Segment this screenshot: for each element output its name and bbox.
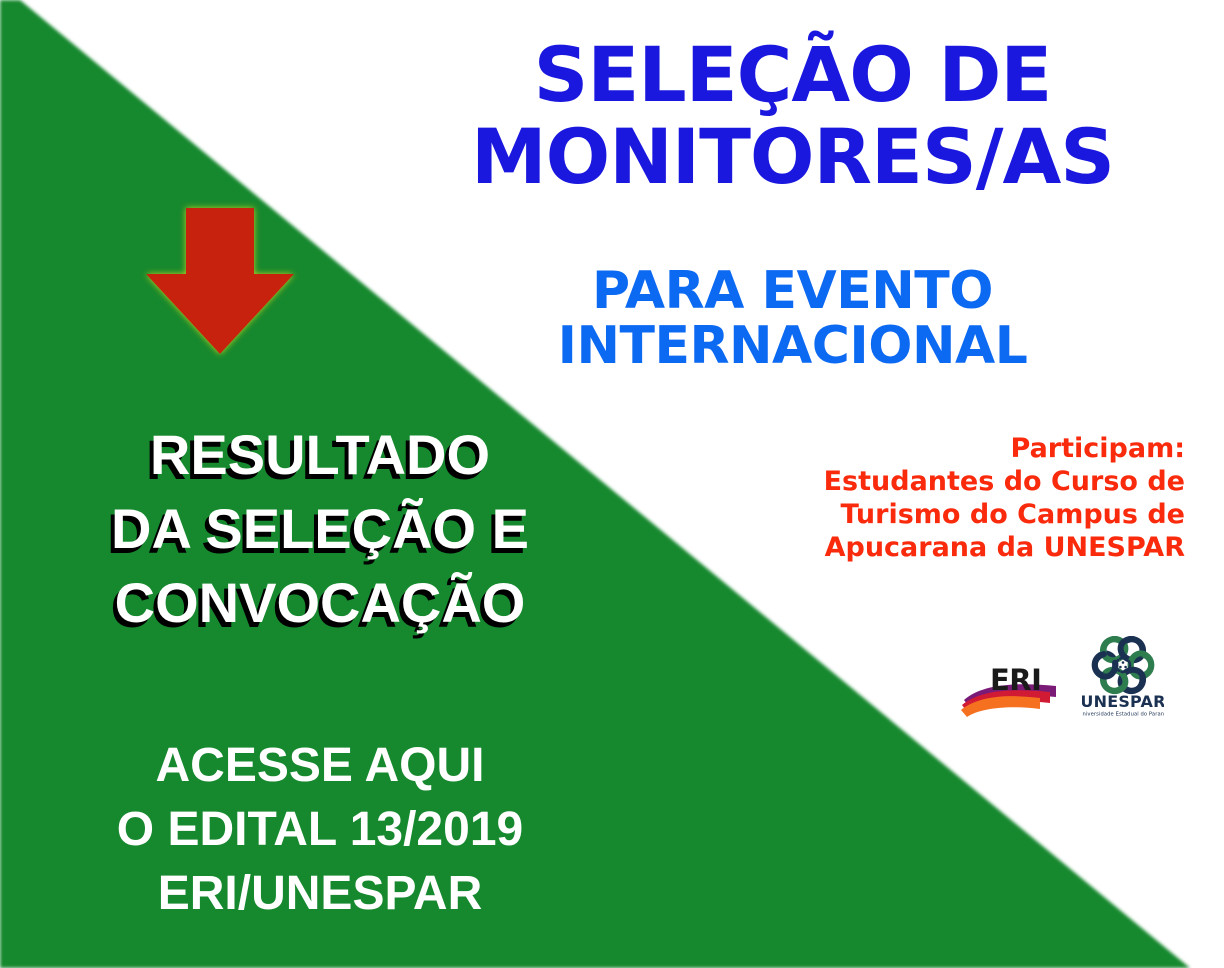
left-content-column: RESULTADO DA SELEÇÃO E CONVOCAÇÃO ACESSE… xyxy=(0,0,660,968)
logo-row: ERI xyxy=(960,630,1185,720)
access-call-to-action[interactable]: ACESSE AQUI O EDITAL 13/2019 ERI/UNESPAR xyxy=(0,734,640,926)
unespar-logo: UNESPAR Universidade Estadual do Paraná xyxy=(1082,636,1164,720)
result-headline: RESULTADO DA SELEÇÃO E CONVOCAÇÃO xyxy=(0,418,640,640)
result-line-3: CONVOCAÇÃO xyxy=(0,566,640,640)
unespar-wordmark: UNESPAR xyxy=(1082,692,1164,711)
participants-line-2: Estudantes do Curso de xyxy=(580,465,1185,498)
eri-wordmark: ERI xyxy=(990,663,1041,697)
result-line-1: RESULTADO xyxy=(0,418,640,492)
unespar-rosette-icon xyxy=(1091,636,1156,695)
access-line-2: O EDITAL 13/2019 xyxy=(0,798,640,862)
unespar-tagline: Universidade Estadual do Paraná xyxy=(1082,711,1164,718)
eri-logo: ERI xyxy=(960,660,1062,720)
access-line-3: ERI/UNESPAR xyxy=(0,862,640,926)
participants-line-4: Apucarana da UNESPAR xyxy=(580,531,1185,564)
participants-line-1: Participam: xyxy=(580,432,1185,465)
participants-note: Participam: Estudantes do Curso de Turis… xyxy=(580,432,1185,564)
poster-canvas: SELEÇÃO DE MONITORES/AS PARA EVENTO INTE… xyxy=(0,0,1224,968)
arrow-down-container xyxy=(140,196,310,366)
arrow-down-icon xyxy=(140,196,310,366)
result-line-2: DA SELEÇÃO E xyxy=(0,492,640,566)
participants-line-3: Turismo do Campus de xyxy=(580,498,1185,531)
access-line-1: ACESSE AQUI xyxy=(0,734,640,798)
